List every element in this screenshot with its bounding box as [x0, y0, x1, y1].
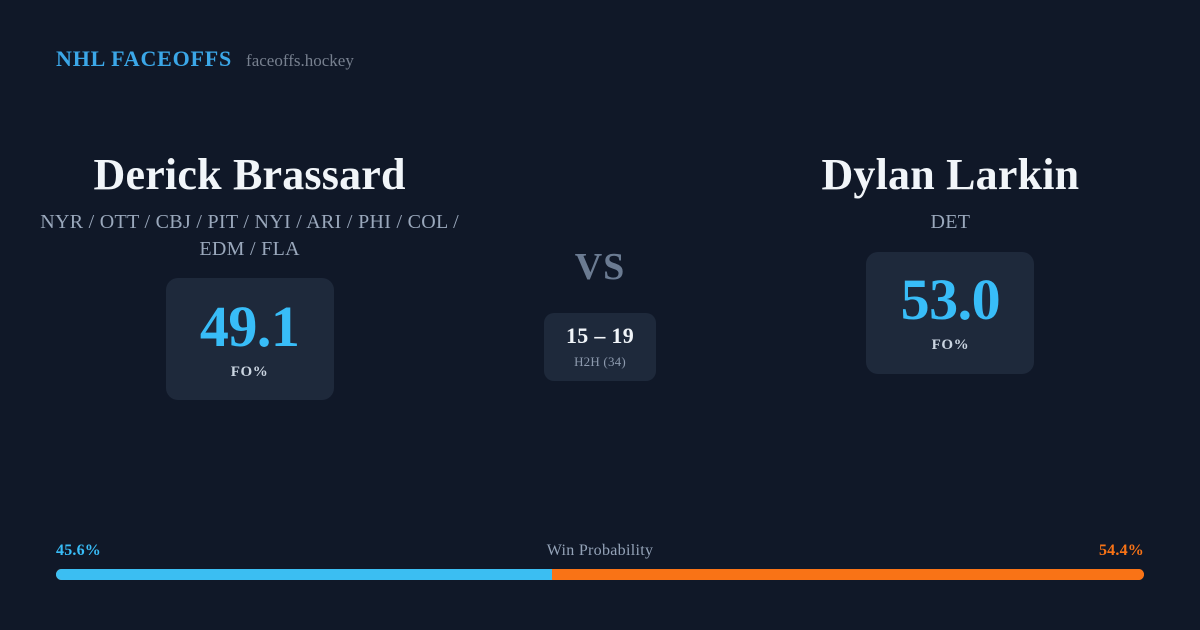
site-header: NHL FACEOFFS faceoffs.hockey: [56, 46, 354, 72]
win-probability-section: 45.6% Win Probability 54.4%: [56, 542, 1144, 580]
win-probability-bar-left: [56, 569, 552, 580]
brand-url: faceoffs.hockey: [246, 51, 354, 71]
brand-title: NHL FACEOFFS: [56, 46, 232, 72]
player-right-stat-label: FO%: [932, 337, 970, 354]
player-right-name: Dylan Larkin: [821, 150, 1079, 199]
player-right-teams: DET: [931, 209, 971, 235]
head-to-head-record: 15 – 19: [566, 325, 634, 347]
head-to-head-box: 15 – 19 H2H (34): [544, 313, 656, 381]
win-probability-title: Win Probability: [547, 542, 654, 560]
win-probability-bar: [56, 569, 1144, 580]
player-left-stat-card: 49.1 FO%: [166, 278, 334, 400]
win-probability-left-value: 45.6%: [56, 542, 101, 560]
win-probability-right-value: 54.4%: [1099, 542, 1144, 560]
versus-column: VS 15 – 19 H2H (34): [483, 150, 717, 381]
matchup-panel: Derick Brassard NYR / OTT / CBJ / PIT / …: [0, 150, 1200, 480]
win-probability-labels: 45.6% Win Probability 54.4%: [56, 542, 1144, 560]
player-left-stat-label: FO%: [231, 364, 269, 381]
player-right-stat-value: 53.0: [901, 271, 1001, 329]
player-left-name: Derick Brassard: [94, 150, 406, 199]
player-left: Derick Brassard NYR / OTT / CBJ / PIT / …: [0, 150, 483, 400]
head-to-head-label: H2H (34): [574, 354, 626, 370]
player-left-teams: NYR / OTT / CBJ / PIT / NYI / ARI / PHI …: [20, 209, 480, 262]
player-right-stat-card: 53.0 FO%: [866, 252, 1034, 374]
versus-label: VS: [575, 248, 626, 286]
player-left-stat-value: 49.1: [200, 298, 300, 356]
player-right: Dylan Larkin DET 53.0 FO%: [717, 150, 1200, 374]
win-probability-bar-right: [552, 569, 1144, 580]
